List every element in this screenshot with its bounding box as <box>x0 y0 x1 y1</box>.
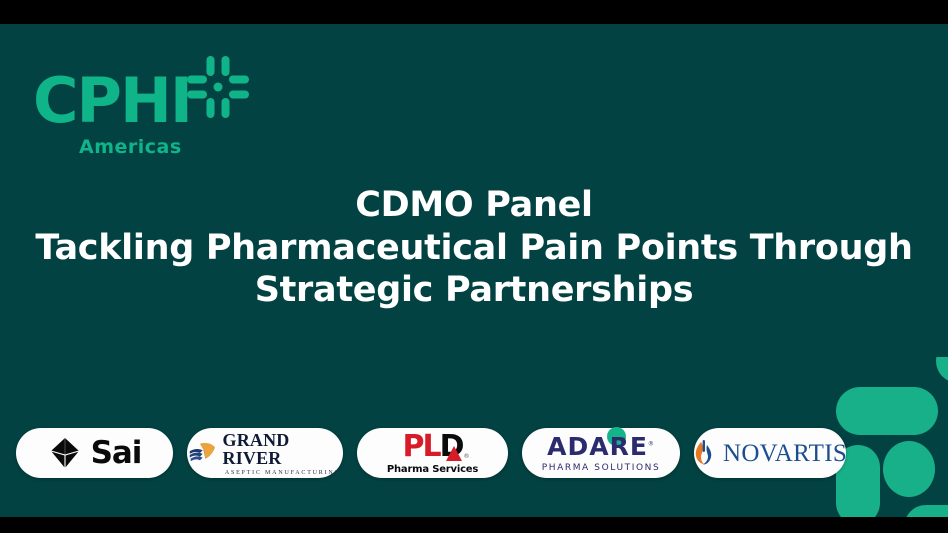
pld-wordmark-pl: PL <box>402 429 439 464</box>
slide-title-line-2: Tackling Pharmaceutical Pain Points Thro… <box>0 227 948 270</box>
cphi-wordmark: CPHI <box>33 70 191 132</box>
sai-wordmark: Sai <box>91 438 142 469</box>
slide-title-line-3: Strategic Partnerships <box>0 269 948 312</box>
cphi-subtitle: Americas <box>79 136 182 158</box>
presentation-slide: CPHI Americas <box>0 0 948 533</box>
sponsor-pill-grand-river[interactable]: GRAND RIVER ASEPTIC MANUFACTURING <box>187 428 343 478</box>
novartis-flame-icon <box>693 439 715 467</box>
pld-wordmark: PLD ® <box>402 432 462 462</box>
pld-registered-mark: ® <box>464 454 470 460</box>
sponsor-pill-sai[interactable]: Sai <box>16 428 173 478</box>
sponsor-pill-novartis[interactable]: NOVARTIS <box>694 428 846 478</box>
letterbox-bar-bottom <box>0 517 948 533</box>
sponsor-pill-adare[interactable]: ADARE® PHARMA SOLUTIONS <box>522 428 680 478</box>
cphi-logo: CPHI Americas <box>33 42 263 167</box>
grand-river-tagline: ASEPTIC MANUFACTURING <box>225 470 341 476</box>
letterbox-bar-top <box>0 0 948 24</box>
sponsor-pill-pld[interactable]: PLD ® Pharma Services <box>357 428 508 478</box>
adare-wordmark-a: A <box>589 432 609 461</box>
sponsor-logo-row: Sai <box>0 427 948 479</box>
adare-wordmark: ADARE® <box>547 434 655 459</box>
grand-river-swoosh-icon <box>187 440 217 466</box>
sai-diamond-icon <box>48 436 82 470</box>
slide-title-block: CDMO Panel Tackling Pharmaceutical Pain … <box>0 184 948 312</box>
adare-wordmark-pre: AD <box>547 432 589 461</box>
cphi-sunburst-icon <box>181 50 255 124</box>
slide-stage: CPHI Americas <box>0 24 948 517</box>
novartis-wordmark: NOVARTIS <box>723 441 847 466</box>
pld-tagline: Pharma Services <box>387 465 478 475</box>
adare-tagline: PHARMA SOLUTIONS <box>542 464 661 473</box>
slide-title-line-1: CDMO Panel <box>0 184 948 227</box>
adare-wordmark-post: RE <box>610 432 648 461</box>
pld-triangle-icon <box>446 446 462 461</box>
grand-river-wordmark: GRAND RIVER <box>223 431 344 467</box>
adare-registered-mark: ® <box>648 440 655 447</box>
